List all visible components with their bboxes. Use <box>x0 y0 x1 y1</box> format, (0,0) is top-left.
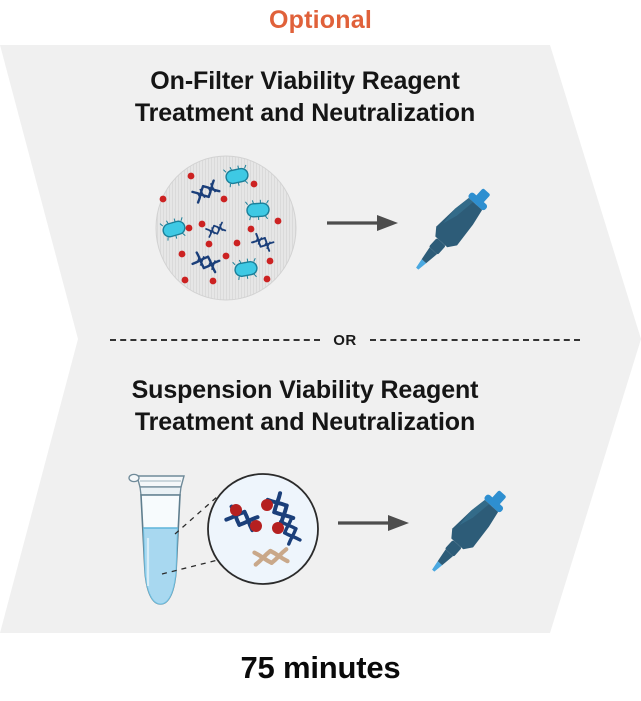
microcentrifuge-tube-illustration <box>118 468 218 613</box>
process-arrow-bottom <box>336 508 411 538</box>
section-title-on-filter-line1: On-Filter Viability Reagent <box>150 67 459 95</box>
process-arrow-top <box>325 208 400 238</box>
pipette-icon-top <box>398 176 506 284</box>
filter-membrane-illustration <box>148 152 308 308</box>
pipette-icon-bottom <box>414 478 522 586</box>
section-title-suspension: Suspension Viability Reagent Treatment a… <box>35 374 575 438</box>
section-title-suspension-line1: Suspension Viability Reagent <box>132 376 479 404</box>
section-title-on-filter: On-Filter Viability Reagent Treatment an… <box>35 65 575 129</box>
divider-dash-right <box>370 339 580 341</box>
workflow-diagram: Optional On-Filter Viability Reagent Tre… <box>0 0 641 701</box>
magnified-view-circle <box>204 470 322 588</box>
duration-label: 75 minutes <box>0 650 641 686</box>
tube-neck <box>140 487 181 495</box>
tube-cap <box>129 474 184 487</box>
optional-label: Optional <box>0 6 641 35</box>
magnifier-lens <box>208 474 318 584</box>
section-title-suspension-line2: Treatment and Neutralization <box>135 408 475 436</box>
divider-label: OR <box>320 332 370 349</box>
or-divider: OR <box>110 330 580 350</box>
divider-dash-left <box>110 339 320 341</box>
section-title-on-filter-line2: Treatment and Neutralization <box>135 99 475 127</box>
